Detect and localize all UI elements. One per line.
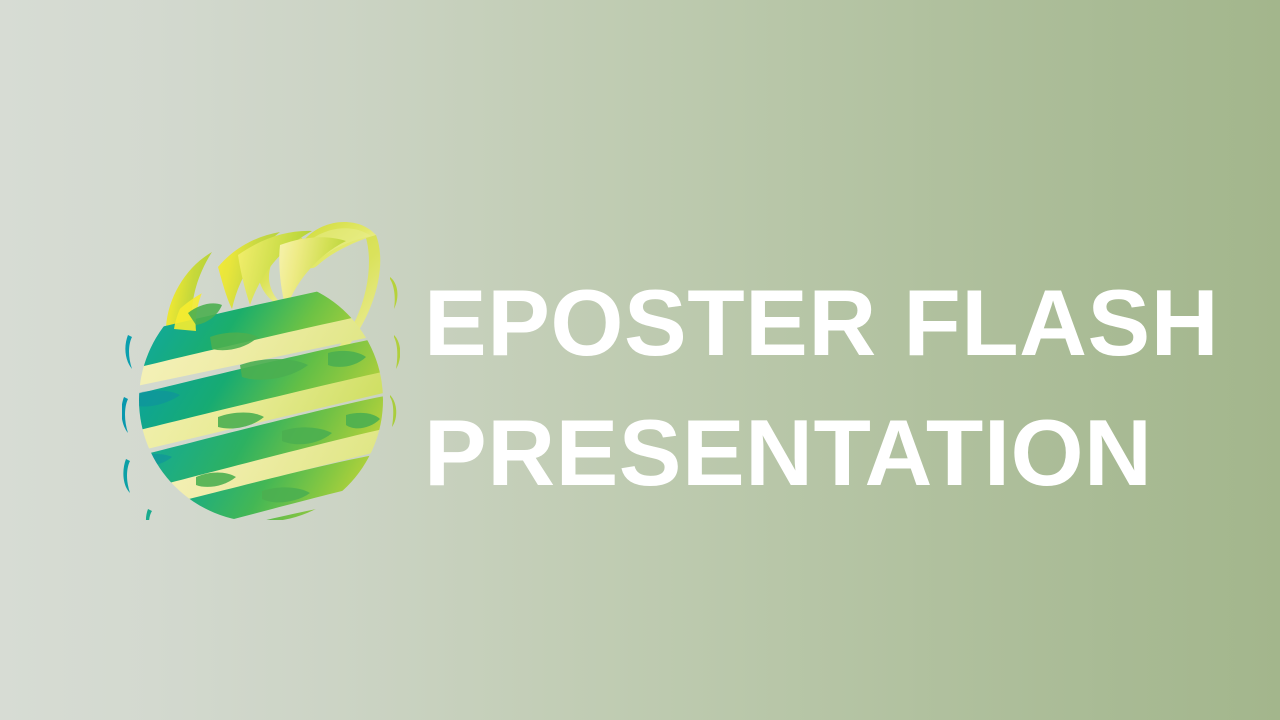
title-line-1: EPOSTER FLASH [424,258,1204,388]
slide-canvas: EPOSTER FLASH PRESENTATION [0,0,1280,720]
slide-title: EPOSTER FLASH PRESENTATION [424,258,1204,518]
logo-globe-ribbons [124,269,396,520]
spiral-globe-logo [122,205,400,520]
title-line-2: PRESENTATION [424,388,1204,518]
